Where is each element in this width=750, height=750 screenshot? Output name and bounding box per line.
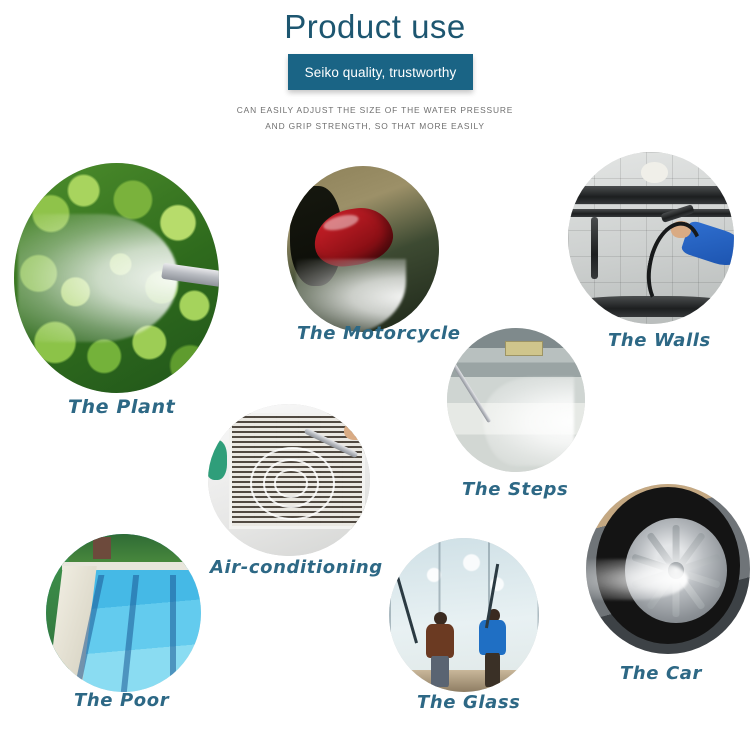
use-case-image-car (586, 484, 750, 654)
use-case-label-pool: The Poor (74, 690, 169, 711)
use-case-image-steps (447, 328, 585, 472)
use-case-image-air-conditioning (208, 404, 370, 556)
use-case-label-glass: The Glass (417, 692, 521, 713)
use-case-label-plant: The Plant (68, 396, 175, 418)
page-title: Product use (0, 8, 750, 46)
use-case-label-steps: The Steps (462, 479, 568, 500)
use-case-image-walls (568, 152, 734, 324)
use-case-image-pool (46, 534, 201, 692)
use-case-label-car: The Car (620, 663, 702, 684)
product-use-infographic: Product use Seiko quality, trustworthy C… (0, 0, 750, 750)
use-case-image-glass (389, 538, 539, 692)
use-case-label-air-conditioning: Air-conditioning (210, 557, 383, 578)
subtitle-line-2: AND GRIP STRENGTH, SO THAT MORE EASILY (0, 121, 750, 131)
use-case-label-walls: The Walls (608, 330, 711, 351)
tagline-text: Seiko quality, trustworthy (288, 54, 473, 90)
tagline-banner: Seiko quality, trustworthy (288, 54, 473, 90)
use-case-image-plant (14, 163, 219, 393)
header: Product use Seiko quality, trustworthy C… (0, 0, 750, 150)
use-case-image-motorcycle (287, 166, 439, 332)
use-case-label-motorcycle: The Motorcycle (297, 323, 461, 344)
subtitle-line-1: CAN EASILY ADJUST THE SIZE OF THE WATER … (0, 105, 750, 115)
